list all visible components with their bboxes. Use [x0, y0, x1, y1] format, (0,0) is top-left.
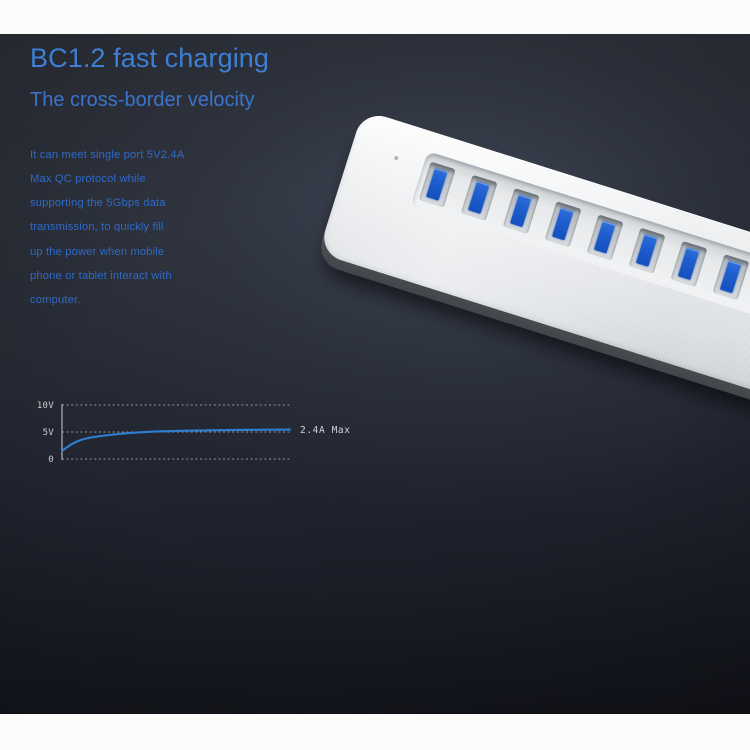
- body-line: computer.: [30, 288, 245, 312]
- y-tick-label-10v: 10V: [37, 401, 54, 411]
- body-line: It can meet single port 5V2.4A: [30, 143, 245, 167]
- chart-svg: 10V 5V 0 2.4A Max: [28, 398, 368, 470]
- body-line: Max QC protocol while: [30, 167, 245, 191]
- headline: BC1.2 fast charging: [30, 44, 330, 74]
- y-tick-label-5v: 5V: [43, 428, 55, 438]
- product-marketing-image: ORICO LEADING TECHNOLOGY BC1.2 fast char…: [0, 0, 750, 750]
- marketing-copy-block: BC1.2 fast charging The cross-border vel…: [30, 44, 330, 312]
- charging-curve-chart: 10V 5V 0 2.4A Max: [28, 398, 368, 470]
- body-line: transmission, to quickly fill: [30, 215, 245, 239]
- y-tick-label-0: 0: [48, 455, 54, 465]
- body-line: up the power when mobile: [30, 240, 245, 264]
- body-line: supporting the 5Gbps data: [30, 191, 245, 215]
- chart-annotation-max-current: 2.4A Max: [300, 425, 351, 436]
- subheadline: The cross-border velocity: [30, 89, 330, 111]
- charging-curve-line: [62, 430, 290, 451]
- body-line: phone or tablet interact with: [30, 264, 245, 288]
- body-paragraph: It can meet single port 5V2.4A Max QC pr…: [30, 143, 245, 312]
